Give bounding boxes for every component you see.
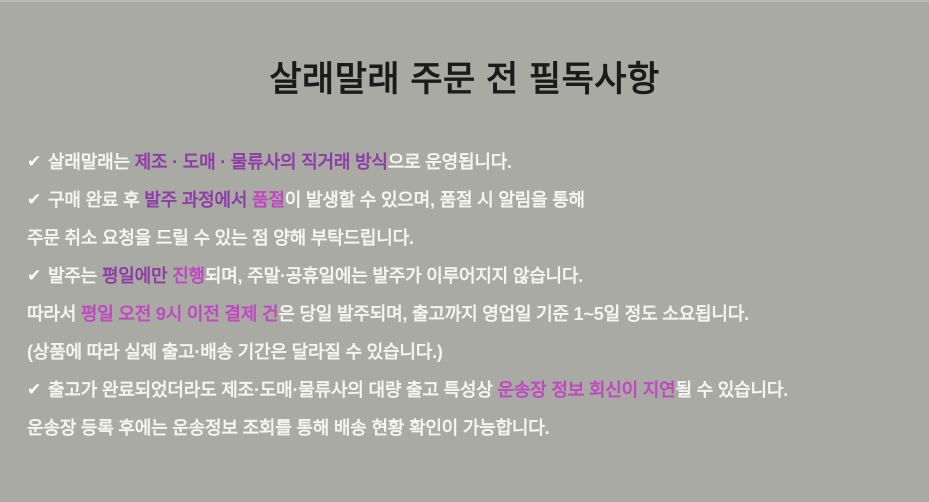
notice-text-segment: 출고가 완료되었더라도 제조·도매·물류사의 대량 출고 특성상 (48, 380, 497, 400)
check-icon: ✔ (27, 257, 41, 295)
page-title: 살래말래 주문 전 필독사항 (0, 60, 929, 99)
check-icon: ✔ (27, 371, 41, 409)
notice-text-segment: 되며, 주말·공휴일에는 발주가 이루어지지 않습니다. (205, 266, 583, 286)
notice-text-segment: (상품에 따라 실제 출고·배송 기간은 달라질 수 있습니다.) (27, 342, 443, 362)
notice-sheet: 살래말래 주문 전 필독사항 ✔살래말래는 제조 · 도매 · 물류사의 직거래… (0, 0, 929, 502)
notice-text-segment: 운송장 정보 회신이 지연 (497, 380, 675, 400)
notice-line: (상품에 따라 실제 출고·배송 기간은 달라질 수 있습니다.) (27, 333, 922, 371)
notice-line: ✔구매 완료 후 발주 과정에서 품절이 발생할 수 있으며, 품절 시 알림을… (27, 181, 922, 219)
notice-text-segment: 될 수 있습니다. (675, 380, 788, 400)
notice-text-segment: 발주는 (48, 266, 102, 286)
notice-text-segment: 운송장 등록 후에는 운송정보 조회를 통해 배송 현황 확인이 가능합니다. (27, 418, 549, 438)
notice-text-segment: 따라서 (27, 304, 81, 324)
notice-text-segment: 평일에만 (102, 266, 172, 286)
notice-text-segment: 품절 (252, 190, 285, 210)
notice-line: ✔발주는 평일에만 진행되며, 주말·공휴일에는 발주가 이루어지지 않습니다. (27, 257, 922, 295)
notice-line: ✔살래말래는 제조 · 도매 · 물류사의 직거래 방식으로 운영됩니다. (27, 143, 922, 181)
notice-text-segment: 발주 과정에서 (144, 190, 252, 210)
notice-text-segment: 구매 완료 후 (48, 190, 144, 210)
notice-text-segment: 제조 · 도매 · 물류사의 직거래 방식 (135, 152, 388, 172)
notice-line: ✔출고가 완료되었더라도 제조·도매·물류사의 대량 출고 특성상 운송장 정보… (27, 371, 922, 409)
notice-text-segment: 은 당일 발주되며, 출고까지 영업일 기준 1~5일 정도 소요됩니다. (278, 304, 749, 324)
notice-line: 주문 취소 요청을 드릴 수 있는 점 양해 부탁드립니다. (27, 219, 922, 257)
notice-text-segment: 으로 운영됩니다. (388, 152, 512, 172)
notice-body-list: ✔살래말래는 제조 · 도매 · 물류사의 직거래 방식으로 운영됩니다.✔구매… (27, 143, 922, 447)
notice-text-segment: 진행 (172, 266, 205, 286)
check-icon: ✔ (27, 143, 41, 181)
notice-line: 운송장 등록 후에는 운송정보 조회를 통해 배송 현황 확인이 가능합니다. (27, 409, 922, 447)
notice-text-segment: 주문 취소 요청을 드릴 수 있는 점 양해 부탁드립니다. (27, 228, 414, 248)
notice-text-segment: 살래말래는 (48, 152, 135, 172)
notice-line: 따라서 평일 오전 9시 이전 결제 건은 당일 발주되며, 출고까지 영업일 … (27, 295, 922, 333)
check-icon: ✔ (27, 181, 41, 219)
notice-text-segment: 평일 오전 9시 이전 결제 건 (81, 304, 278, 324)
notice-text-segment: 이 발생할 수 있으며, 품절 시 알림을 통해 (285, 190, 585, 210)
